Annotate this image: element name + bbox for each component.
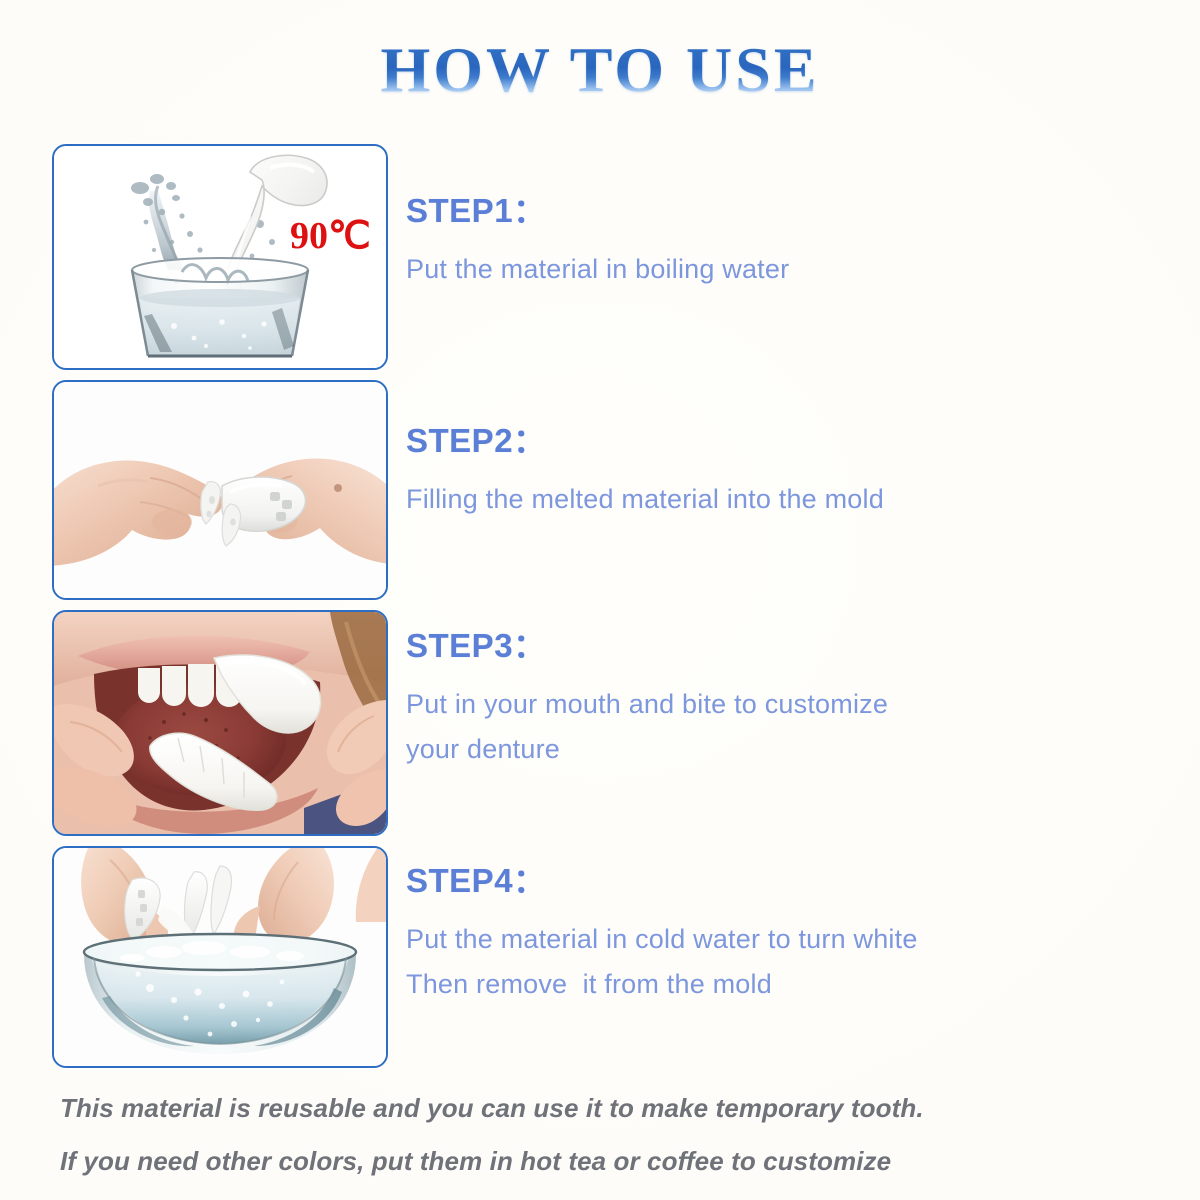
step-1-line-1: Put the material in boiling water bbox=[406, 247, 1146, 292]
mouth-denture-illustration bbox=[54, 612, 386, 834]
footer-line-2: If you need other colors, put them in ho… bbox=[60, 1135, 1140, 1188]
step-3-line-2: your denture bbox=[406, 727, 1146, 772]
step-4-line-1: Put the material in cold water to turn w… bbox=[406, 917, 1146, 962]
step-3-text: STEP3： Put in your mouth and bite to cus… bbox=[406, 625, 1146, 772]
temperature-badge: 90℃ bbox=[290, 213, 371, 258]
footer-line-1: This material is reusable and you can us… bbox=[60, 1082, 1140, 1135]
mouth-bite-denture-photo bbox=[54, 612, 386, 834]
page-title: HOW TO USE bbox=[380, 38, 819, 102]
page-title-container: HOW TO USE bbox=[0, 38, 1200, 102]
step-4-text: STEP4： Put the material in cold water to… bbox=[406, 860, 1146, 1007]
step-4-label: STEP4： bbox=[406, 860, 1146, 901]
step-1-text: STEP1： Put the material in boiling water bbox=[406, 190, 1146, 292]
step-3-line-1: Put in your mouth and bite to customize bbox=[406, 682, 1146, 727]
step-4-image-panel bbox=[52, 846, 388, 1068]
hands-mold-illustration bbox=[54, 382, 386, 598]
step-3-image-panel bbox=[52, 610, 388, 836]
how-to-use-infographic: HOW TO USE bbox=[0, 0, 1200, 1200]
step-2-image-panel bbox=[52, 380, 388, 600]
hands-holding-mold-photo bbox=[54, 382, 386, 598]
step-1-label: STEP1： bbox=[406, 190, 1146, 231]
step-2-line-1: Filling the melted material into the mol… bbox=[406, 477, 1146, 522]
step-2-label: STEP2： bbox=[406, 420, 1146, 461]
cold-water-bowl-illustration bbox=[54, 848, 386, 1066]
step-4-line-2: Then remove it from the mold bbox=[406, 962, 1146, 1007]
step-2-text: STEP2： Filling the melted material into … bbox=[406, 420, 1146, 522]
footer-note: This material is reusable and you can us… bbox=[60, 1082, 1140, 1189]
cold-water-bowl-photo bbox=[54, 848, 386, 1066]
step-3-label: STEP3： bbox=[406, 625, 1146, 666]
